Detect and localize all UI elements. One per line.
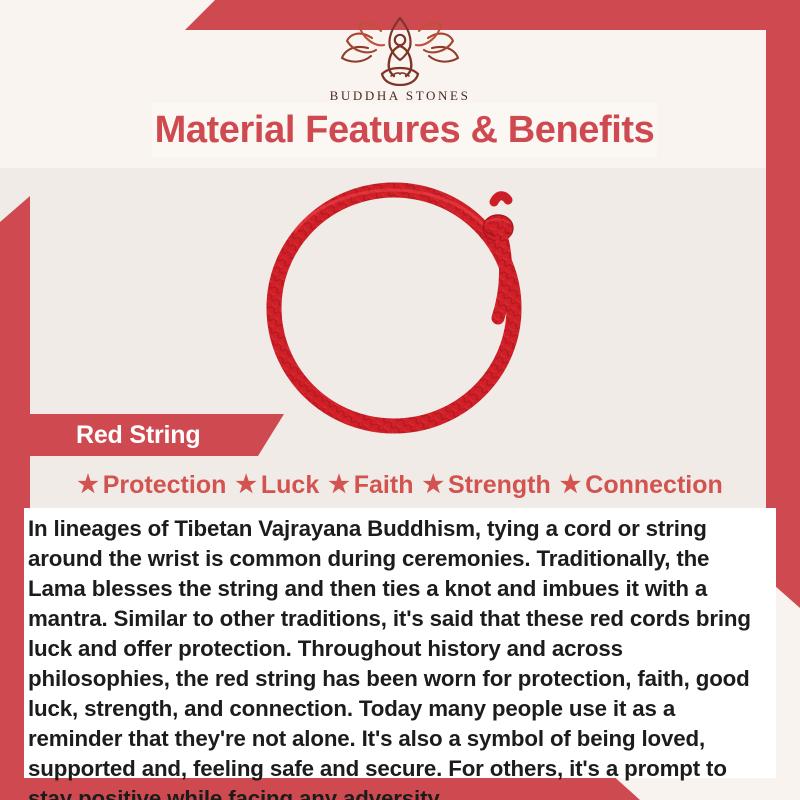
product-name-ribbon: Red String [22,414,284,456]
star-icon: ★ [235,473,257,497]
product-name-label: Red String [76,421,200,450]
page-title: Material Features & Benefits [155,109,655,152]
benefit-item-protection: ★ Protection [77,471,226,500]
star-icon: ★ [77,473,99,497]
benefit-label: Strength [448,471,551,500]
star-icon: ★ [328,473,350,497]
benefit-item-faith: ★ Faith [328,471,413,500]
benefit-item-connection: ★ Connection [560,471,723,500]
description-block: In lineages of Tibetan Vajrayana Buddhis… [24,508,776,778]
red-braided-cord-bracelet-image [236,168,566,436]
benefit-label: Protection [103,471,227,500]
benefit-item-strength: ★ Strength [422,471,550,500]
description-paragraph: In lineages of Tibetan Vajrayana Buddhis… [28,514,770,800]
benefit-label: Faith [354,471,414,500]
brand-name: BUDDHA STONES [330,88,471,104]
benefit-item-luck: ★ Luck [235,471,319,500]
brand-logo: BUDDHA STONES [0,14,800,104]
benefit-label: Luck [261,471,319,500]
star-icon: ★ [560,473,582,497]
page-title-banner: Material Features & Benefits [152,103,657,157]
poster-canvas: BUDDHA STONES Material Features & Benefi… [0,0,800,800]
benefit-label: Connection [585,471,723,500]
star-icon: ★ [422,473,444,497]
benefits-list: ★ Protection ★ Luck ★ Faith ★ Strength ★… [30,466,770,504]
lotus-meditation-icon [338,14,462,86]
